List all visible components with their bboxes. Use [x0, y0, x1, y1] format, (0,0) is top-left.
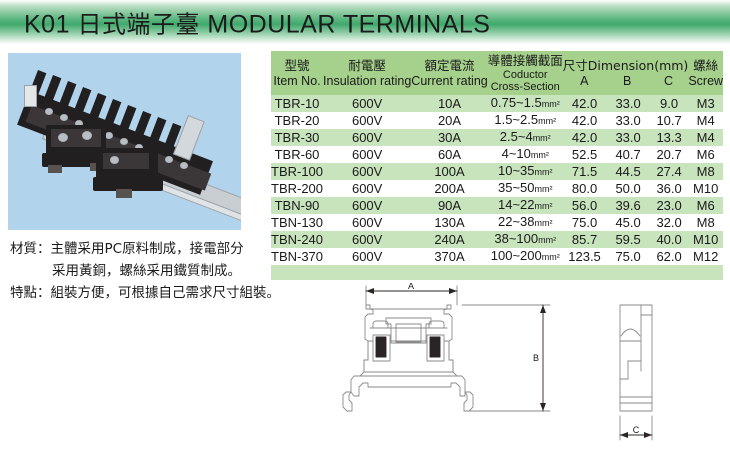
cell-insulation-rating: 600V — [323, 214, 411, 231]
cell-dim-c: 23.0 — [650, 197, 688, 214]
col-header-dim-b: B — [606, 74, 649, 89]
product-photo — [8, 53, 241, 230]
cell-dim-c: 32.0 — [650, 214, 688, 231]
cell-item-no: TBR-200 — [271, 180, 323, 197]
cell-insulation-rating: 600V — [323, 95, 411, 112]
col-header-dimension-group: 尺寸Dimension(mm) A B C — [563, 51, 689, 95]
note-material-label: 材質： — [10, 241, 51, 257]
cell-current-rating: 30A — [411, 129, 487, 146]
table-filler-cell — [411, 265, 487, 280]
col-header-dim-c: C — [649, 74, 689, 89]
col-header-item-no-cn: 型號 — [271, 58, 323, 74]
col-header-current-rating: 額定電流 Current rating — [411, 51, 487, 95]
cell-item-no: TBN-90 — [271, 197, 323, 214]
cell-dim-a: 80.0 — [563, 180, 607, 197]
unit-mm2: mm² — [533, 133, 551, 143]
cell-dim-a: 42.0 — [563, 129, 607, 146]
table-row: TBN-90600V90A14~22mm²56.039.623.0M6 — [271, 197, 723, 214]
unit-mm2: mm² — [535, 218, 553, 228]
unit-mm2: mm² — [542, 99, 560, 109]
cell-dim-a: 123.5 — [563, 248, 607, 265]
cell-screw: M4 — [688, 129, 723, 146]
cell-dim-b: 50.0 — [606, 180, 650, 197]
cell-item-no: TBR-60 — [271, 146, 323, 163]
cell-item-no: TBR-30 — [271, 129, 323, 146]
table-filler-cell — [488, 265, 563, 280]
cell-dim-a: 52.5 — [563, 146, 607, 163]
cell-cross-section: 4~10mm² — [488, 146, 563, 163]
cell-item-no: TBR-20 — [271, 112, 323, 129]
table-filler-cell — [606, 265, 650, 280]
cell-dim-c: 13.3 — [650, 129, 688, 146]
table-row: TBR-30600V30A2.5~4mm²42.033.013.3M4 — [271, 129, 723, 146]
cell-item-no: TBN-130 — [271, 214, 323, 231]
cell-item-no: TBN-370 — [271, 248, 323, 265]
dimension-label-a: A — [408, 283, 414, 291]
page-title-chinese: 日式端子臺 — [77, 11, 200, 39]
cell-insulation-rating: 600V — [323, 180, 411, 197]
end-cap-right — [173, 115, 205, 161]
table-row: TBN-130600V130A22~38mm²75.045.032.0M8 — [271, 214, 723, 231]
cell-screw: M10 — [688, 180, 723, 197]
col-header-insulation-en: Insulation rating — [323, 74, 411, 89]
note-material-text1: 主體采用PC原料制成，接電部分 — [51, 241, 244, 257]
dimension-label-c: C — [633, 425, 640, 435]
table-filler-cell — [271, 265, 323, 280]
dimension-label-b: B — [533, 353, 539, 363]
unit-mm2: mm² — [538, 116, 556, 126]
cell-dim-a: 56.0 — [563, 197, 607, 214]
table-filler-cell — [650, 265, 688, 280]
cell-screw: M3 — [688, 95, 723, 112]
note-material-line1: 材質：主體采用PC原料制成，接電部分 — [10, 238, 268, 260]
cell-dim-b: 44.5 — [606, 163, 650, 180]
cell-current-rating: 10A — [411, 95, 487, 112]
col-header-cross-section-en-line1: Coductor — [488, 69, 563, 81]
page-title: K01 日式端子臺 MODULAR TERMINALS — [24, 5, 490, 40]
cell-insulation-rating: 600V — [323, 197, 411, 214]
table-filler-cell — [563, 265, 607, 280]
cell-current-rating: 370A — [411, 248, 487, 265]
cell-insulation-rating: 600V — [323, 129, 411, 146]
cell-dim-b: 33.0 — [606, 129, 650, 146]
table-row: TBR-200600V200A35~50mm²80.050.036.0M10 — [271, 180, 723, 197]
col-header-cross-section-cn: 導體接觸截面 — [488, 53, 563, 69]
cell-current-rating: 100A — [411, 163, 487, 180]
cell-dim-c: 40.0 — [650, 231, 688, 248]
dimension-arrowheads — [366, 288, 652, 438]
unit-mm2: mm² — [531, 150, 549, 160]
cell-dim-b: 33.0 — [606, 95, 650, 112]
table-filler-row — [271, 265, 723, 280]
cell-dim-a: 75.0 — [563, 214, 607, 231]
cell-dim-c: 20.7 — [650, 146, 688, 163]
cell-insulation-rating: 600V — [323, 146, 411, 163]
cell-cross-section: 2.5~4mm² — [488, 129, 563, 146]
cell-item-no: TBN-240 — [271, 231, 323, 248]
cell-current-rating: 90A — [411, 197, 487, 214]
col-header-item-no: 型號 Item No. — [271, 51, 323, 95]
note-feature-text1: 組裝方便，可根據自己需求尺寸組裝。 — [51, 285, 281, 301]
cell-cross-section: 14~22mm² — [488, 197, 563, 214]
table-header-row: 型號 Item No. 耐電壓 Insulation rating 額定電流 C… — [271, 51, 723, 95]
cell-screw: M6 — [688, 146, 723, 163]
cell-insulation-rating: 600V — [323, 231, 411, 248]
cell-dim-a: 71.5 — [563, 163, 607, 180]
cell-cross-section: 35~50mm² — [488, 180, 563, 197]
col-header-dimension-label: 尺寸Dimension(mm) — [563, 58, 689, 74]
note-material-line2: 采用黃銅，螺絲采用鐵質制成。 — [10, 260, 268, 282]
page-title-english: MODULAR TERMINALS — [207, 11, 490, 39]
page-header-banner: K01 日式端子臺 MODULAR TERMINALS — [0, 0, 730, 44]
cell-current-rating: 130A — [411, 214, 487, 231]
unit-mm2: mm² — [535, 201, 553, 211]
cell-item-no: TBR-10 — [271, 95, 323, 112]
col-header-insulation-rating: 耐電壓 Insulation rating — [323, 51, 411, 95]
unit-mm2: mm² — [538, 235, 556, 245]
note-feature-label: 特點： — [10, 285, 51, 301]
col-header-insulation-cn: 耐電壓 — [323, 58, 411, 74]
cell-screw: M8 — [688, 163, 723, 180]
end-cap-left — [24, 85, 37, 107]
cell-dim-a: 85.7 — [563, 231, 607, 248]
table-row: TBN-370600V370A100~200mm²123.575.062.0M1… — [271, 248, 723, 265]
cell-insulation-rating: 600V — [323, 163, 411, 180]
cell-dim-c: 36.0 — [650, 180, 688, 197]
cell-dim-b: 59.5 — [606, 231, 650, 248]
table-row: TBR-60600V60A4~10mm²52.540.720.7M6 — [271, 146, 723, 163]
cell-insulation-rating: 600V — [323, 248, 411, 265]
table-row: TBN-240600V240A38~100mm²85.759.540.0M10 — [271, 231, 723, 248]
col-header-screw-en: Screw — [688, 74, 723, 89]
unit-mm2: mm² — [535, 184, 553, 194]
unit-mm2: mm² — [535, 167, 553, 177]
specification-table-body: TBR-10600V10A0.75~1.5mm²42.033.09.0M3TBR… — [271, 95, 723, 280]
cell-cross-section: 1.5~2.5mm² — [488, 112, 563, 129]
col-header-cross-section-en-line2: Cross-Section — [488, 81, 563, 93]
unit-mm2: mm² — [542, 252, 560, 262]
table-row: TBR-10600V10A0.75~1.5mm²42.033.09.0M3 — [271, 95, 723, 112]
col-header-screw: 螺絲 Screw — [688, 51, 723, 95]
col-header-current-en: Current rating — [411, 74, 487, 89]
cell-current-rating: 20A — [411, 112, 487, 129]
cell-dim-b: 45.0 — [606, 214, 650, 231]
cell-screw: M8 — [688, 214, 723, 231]
cell-current-rating: 200A — [411, 180, 487, 197]
cell-cross-section: 38~100mm² — [488, 231, 563, 248]
page-title-code: K01 — [24, 11, 70, 39]
cell-screw: M12 — [688, 248, 723, 265]
cell-dim-b: 40.7 — [606, 146, 650, 163]
material-and-feature-notes: 材質：主體采用PC原料制成，接電部分 采用黃銅，螺絲采用鐵質制成。 特點：組裝方… — [10, 238, 268, 304]
cell-dim-b: 75.0 — [606, 248, 650, 265]
cell-cross-section: 0.75~1.5mm² — [488, 95, 563, 112]
cell-dim-c: 9.0 — [650, 95, 688, 112]
specification-table: 型號 Item No. 耐電壓 Insulation rating 額定電流 C… — [271, 51, 723, 280]
table-row: TBR-20600V20A1.5~2.5mm²42.033.010.7M4 — [271, 112, 723, 129]
col-header-cross-section: 導體接觸截面 Coductor Cross-Section — [488, 51, 563, 95]
cell-current-rating: 240A — [411, 231, 487, 248]
dimension-drawing: A B C — [340, 283, 730, 456]
cell-cross-section: 10~35mm² — [488, 163, 563, 180]
cell-dim-b: 39.6 — [606, 197, 650, 214]
col-header-current-cn: 額定電流 — [411, 58, 487, 74]
col-header-dim-a: A — [563, 74, 606, 89]
col-header-item-no-en: Item No. — [271, 74, 323, 89]
cell-dim-a: 42.0 — [563, 112, 607, 129]
cell-screw: M10 — [688, 231, 723, 248]
cell-screw: M4 — [688, 112, 723, 129]
cell-cross-section: 22~38mm² — [488, 214, 563, 231]
cell-dim-c: 27.4 — [650, 163, 688, 180]
cell-dim-c: 10.7 — [650, 112, 688, 129]
col-header-screw-cn: 螺絲 — [688, 58, 723, 74]
cell-dim-a: 42.0 — [563, 95, 607, 112]
cell-insulation-rating: 600V — [323, 112, 411, 129]
cell-dim-c: 62.0 — [650, 248, 688, 265]
cell-item-no: TBR-100 — [271, 163, 323, 180]
cell-dim-b: 33.0 — [606, 112, 650, 129]
cell-screw: M6 — [688, 197, 723, 214]
note-feature-line1: 特點：組裝方便，可根據自己需求尺寸組裝。 — [10, 282, 268, 304]
table-filler-cell — [323, 265, 411, 280]
cell-cross-section: 100~200mm² — [488, 248, 563, 265]
table-filler-cell — [688, 265, 723, 280]
cell-current-rating: 60A — [411, 146, 487, 163]
table-row: TBR-100600V100A10~35mm²71.544.527.4M8 — [271, 163, 723, 180]
